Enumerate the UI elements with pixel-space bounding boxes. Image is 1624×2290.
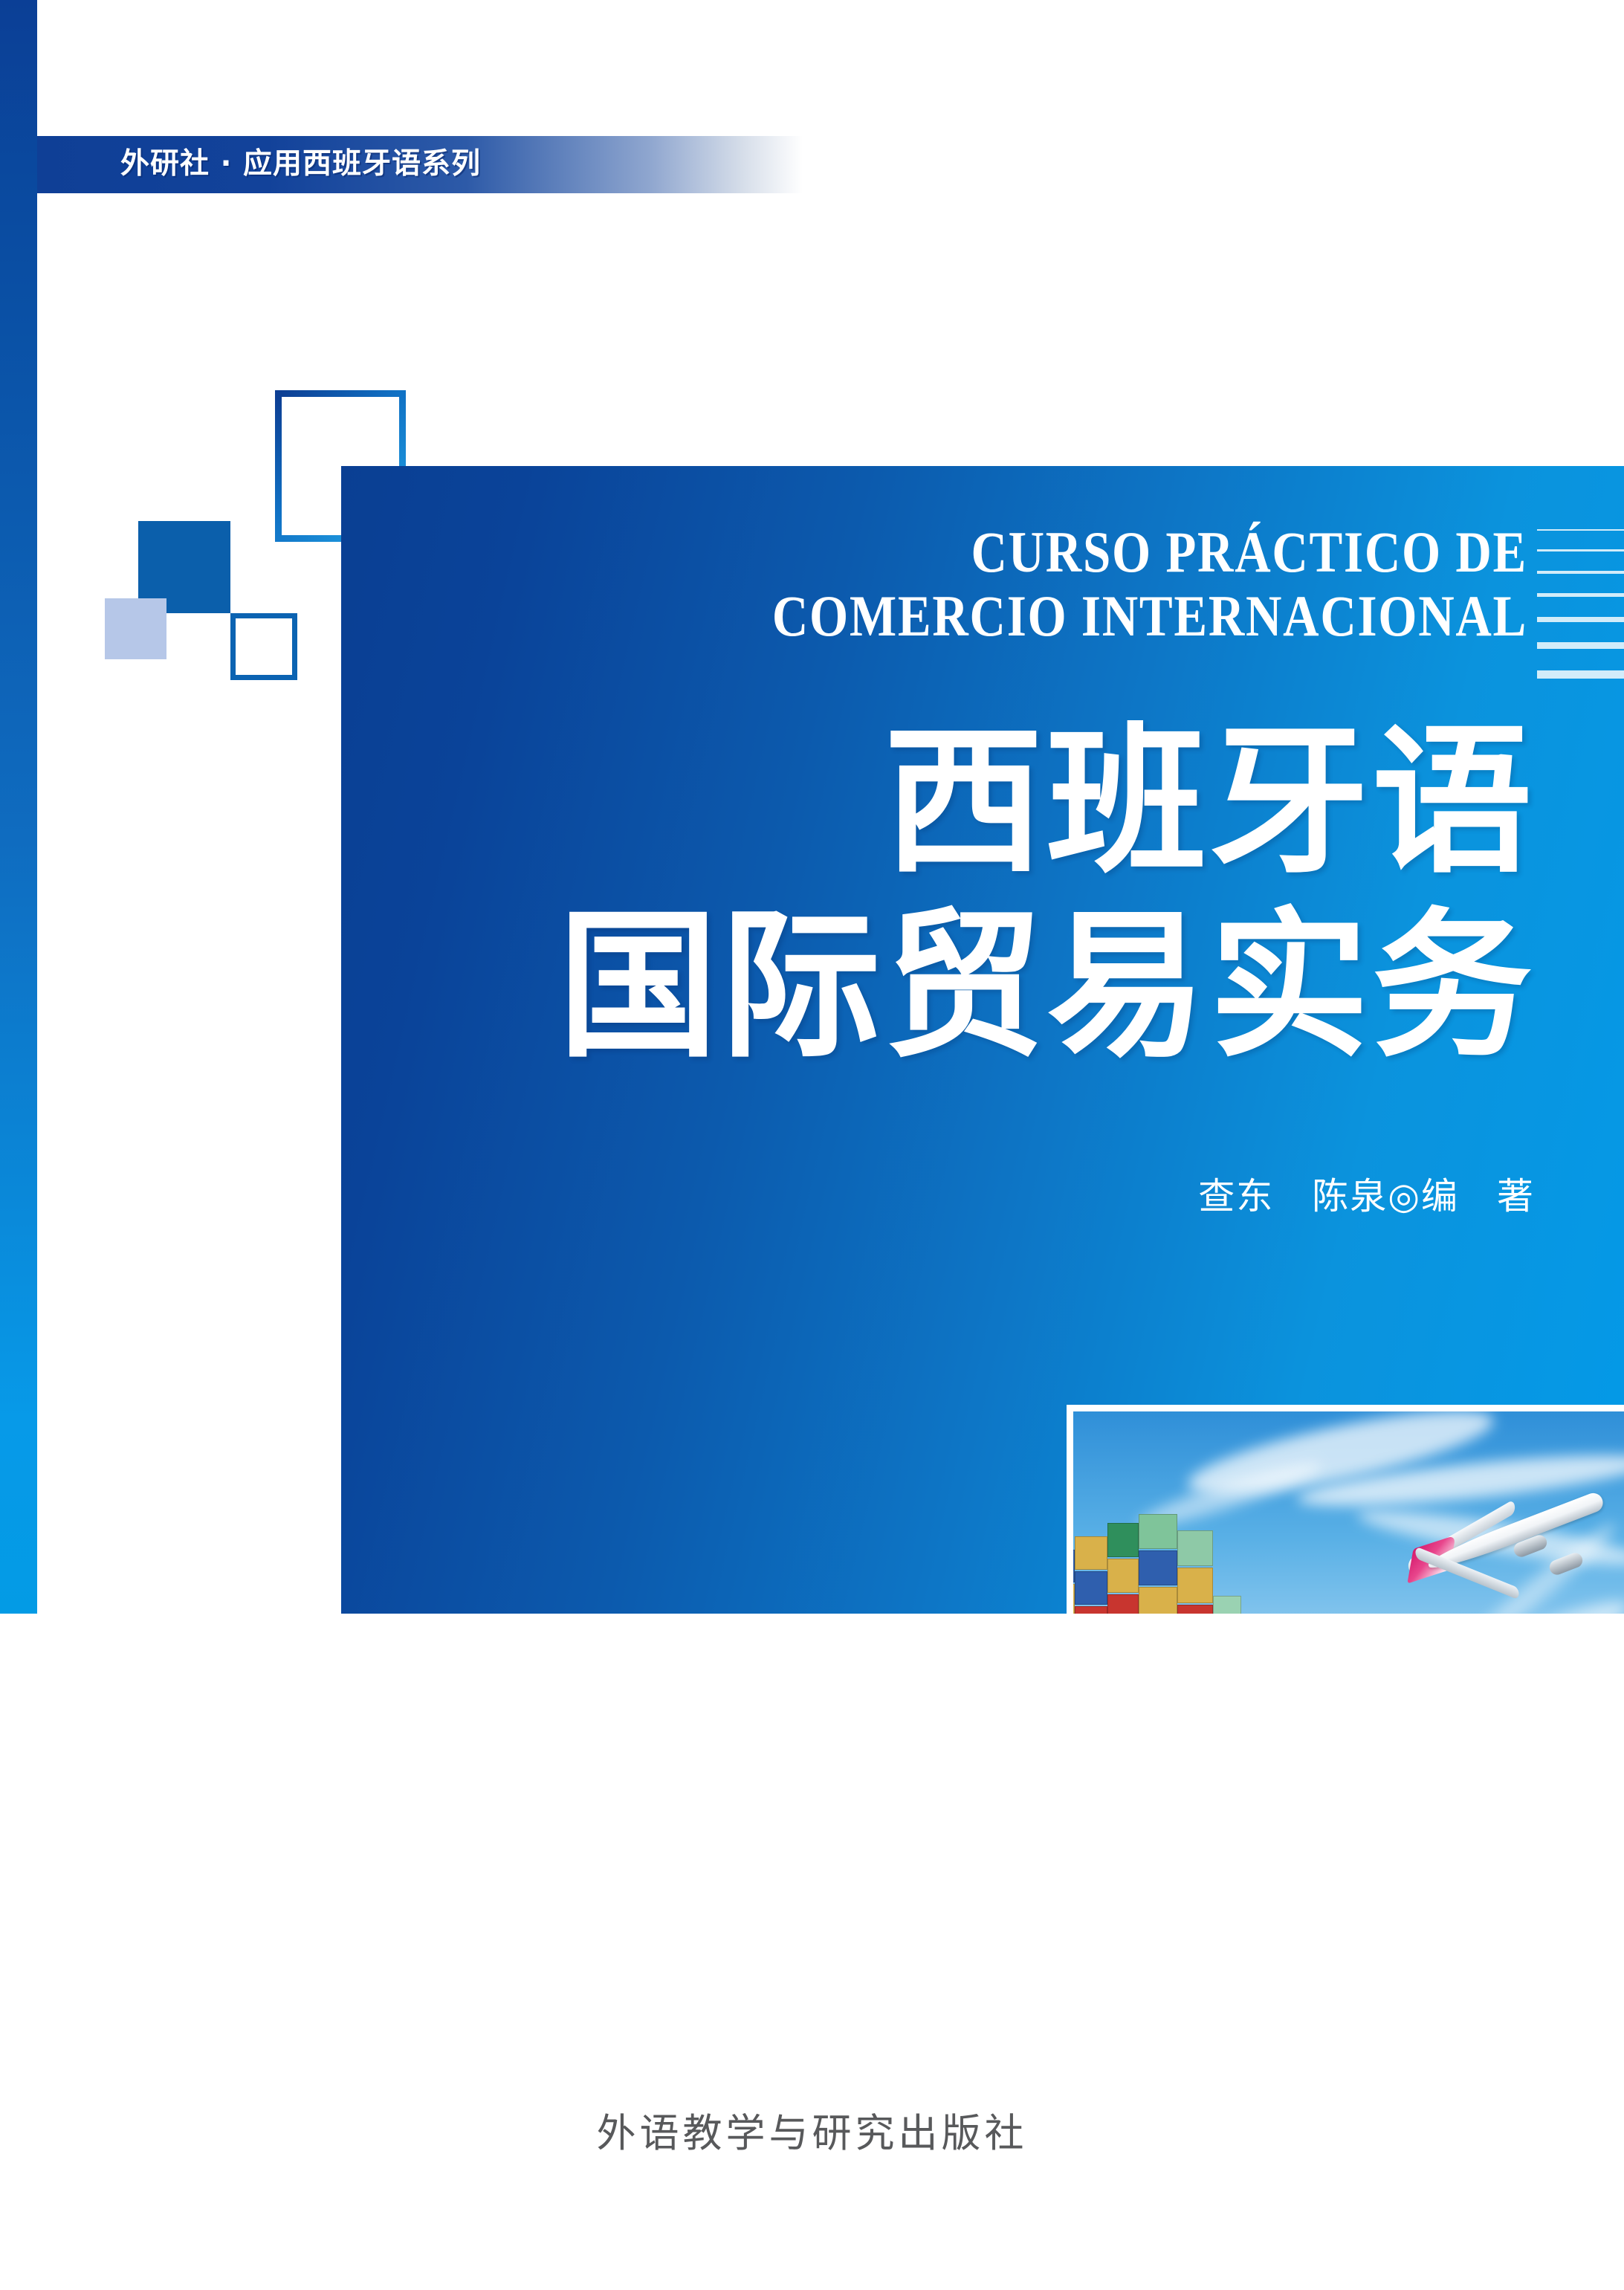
- decor-rule-3: [1537, 571, 1624, 574]
- shipping-container: [1139, 1550, 1177, 1585]
- book-cover: 外研社 · 应用西班牙语系列 CURSO PRÁCTICO DE COMERCI…: [0, 0, 1624, 2290]
- shipping-container: [1139, 1514, 1177, 1549]
- shipping-container: [1107, 1523, 1139, 1557]
- shipping-container: [1177, 1530, 1213, 1566]
- decor-rule-5: [1537, 617, 1624, 622]
- book-title-line-2: 国际贸易实务: [341, 894, 1535, 1078]
- series-banner-label: 外研社 · 应用西班牙语系列: [120, 143, 481, 186]
- decor-rule-2: [1537, 549, 1624, 552]
- decor-rule-4: [1537, 593, 1624, 597]
- book-title-line-1: 西班牙语: [341, 710, 1535, 894]
- spanish-subtitle-line-2: COMERCIO INTERNACIONAL: [507, 584, 1527, 648]
- decor-rule-6: [1537, 642, 1624, 649]
- left-accent-bar: [0, 0, 37, 1614]
- bottom-stripe-zone: [0, 1614, 1624, 2290]
- decor-square-outline-small: [230, 613, 297, 680]
- publisher-name: 外语教学与研究出版社: [0, 2102, 1624, 2158]
- spanish-subtitle-line-1: CURSO PRÁCTICO DE: [507, 520, 1527, 584]
- decor-rule-7: [1537, 670, 1624, 679]
- shipping-container: [1107, 1559, 1139, 1593]
- decor-rules-stack: [1537, 529, 1624, 693]
- author-line: 查东 陈泉◎编 著: [341, 1167, 1535, 1220]
- shipping-container: [1075, 1571, 1107, 1605]
- shipping-container: [1075, 1536, 1107, 1570]
- decor-square-lavender: [105, 598, 166, 659]
- decor-rule-1: [1537, 529, 1624, 531]
- book-title: 西班牙语 国际贸易实务: [341, 710, 1535, 1078]
- shipping-container: [1177, 1568, 1213, 1603]
- spanish-subtitle: CURSO PRÁCTICO DE COMERCIO INTERNACIONAL: [507, 520, 1527, 648]
